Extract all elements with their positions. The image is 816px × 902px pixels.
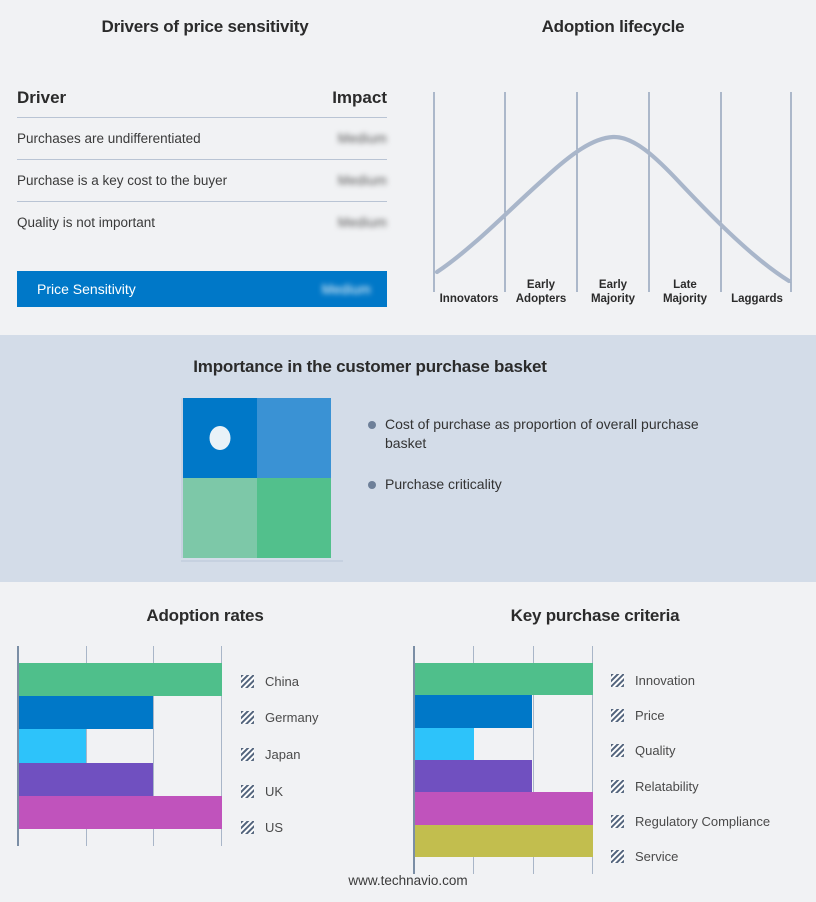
bar-row-innovation: [415, 663, 593, 695]
hatch-swatch-icon: [241, 675, 254, 688]
bullet-icon: [368, 421, 376, 429]
lifecycle-stage-labels: Innovators Early Adopters Early Majority…: [433, 264, 793, 310]
bar-row-us: [19, 796, 222, 829]
importance-panel-title: Importance in the customer purchase bask…: [0, 357, 740, 377]
impact-value-redacted: Medium: [338, 131, 387, 146]
stage-line-2: Majority: [649, 293, 721, 307]
quadrant-grid: [181, 398, 331, 558]
bar-innovation: [415, 663, 593, 695]
legend-label: US: [265, 820, 283, 835]
hatch-swatch-icon: [241, 748, 254, 761]
price-sensitivity-label: Price Sensitivity: [37, 281, 136, 297]
legend-item-germany: Germany: [241, 700, 392, 737]
bar-china: [19, 663, 222, 696]
legend-item-regulatory-compliance: Regulatory Compliance: [611, 804, 813, 839]
adoption-bar-rows: [19, 663, 222, 829]
legend-item-uk: UK: [241, 773, 392, 810]
bar-regulatory-compliance: [415, 792, 593, 824]
drivers-table: Driver Impact Purchases are undifferenti…: [17, 88, 387, 243]
bar-price: [415, 695, 532, 727]
hatch-swatch-icon: [611, 780, 624, 793]
bar-row-uk: [19, 763, 222, 796]
price-sensitivity-impact-redacted: Medium: [322, 282, 371, 297]
bar-row-china: [19, 663, 222, 696]
stage-line-1: Late: [649, 279, 721, 293]
bar-quality: [415, 728, 474, 760]
legend-label: Regulatory Compliance: [635, 814, 770, 829]
legend-item-relatability: Relatability: [611, 769, 813, 804]
hatch-swatch-icon: [611, 850, 624, 863]
hatch-swatch-icon: [611, 744, 624, 757]
stage-line-2: Adopters: [505, 293, 577, 307]
stage-line-1: Early: [577, 279, 649, 293]
criteria-plot-area: [413, 646, 593, 874]
lifecycle-stage-laggards: Laggards: [721, 264, 793, 310]
drivers-panel-title: Drivers of price sensitivity: [0, 17, 410, 37]
quadrant-bottom-left: [183, 478, 257, 558]
stage-line-2: Majority: [577, 293, 649, 307]
legend-item-quality: Quality: [611, 733, 813, 768]
position-marker-dot: [210, 426, 231, 450]
legend-item-purchase-criticality: Purchase criticality: [368, 475, 708, 494]
column-header-driver: Driver: [17, 88, 66, 108]
bar-germany: [19, 696, 153, 729]
driver-label: Purchases are undifferentiated: [17, 131, 201, 146]
hatch-swatch-icon: [611, 674, 624, 687]
legend-label: China: [265, 674, 299, 689]
legend-label: Service: [635, 849, 678, 864]
table-row: Purchase is a key cost to the buyer Medi…: [17, 160, 387, 202]
lifecycle-panel-title: Adoption lifecycle: [410, 17, 816, 37]
impact-value-redacted: Medium: [338, 215, 387, 230]
footer-website-url: www.technavio.com: [0, 873, 816, 888]
hatch-swatch-icon: [611, 709, 624, 722]
column-header-impact: Impact: [332, 88, 387, 108]
legend-label: Purchase criticality: [385, 475, 502, 494]
importance-in-purchase-basket-panel: Importance in the customer purchase bask…: [0, 335, 816, 582]
stage-line-1: Early: [505, 279, 577, 293]
lifecycle-stage-early-majority: Early Majority: [577, 264, 649, 310]
hatch-swatch-icon: [241, 711, 254, 724]
bullet-icon: [368, 481, 376, 489]
legend-label: Price: [635, 708, 665, 723]
legend-label: Relatability: [635, 779, 699, 794]
table-row: Quality is not important Medium: [17, 202, 387, 243]
legend-item-us: US: [241, 809, 392, 846]
bar-uk: [19, 763, 153, 796]
quadrant-top-left: [183, 398, 257, 478]
legend-item-china: China: [241, 663, 392, 700]
bar-us: [19, 796, 222, 829]
legend-label: UK: [265, 784, 283, 799]
adoption-rates-panel: Adoption rates: [0, 582, 410, 902]
bar-row-japan: [19, 729, 222, 762]
drivers-of-price-sensitivity-panel: Drivers of price sensitivity Driver Impa…: [0, 0, 410, 335]
impact-value-redacted: Medium: [338, 173, 387, 188]
criteria-bar-rows: [415, 663, 593, 857]
quadrant-baseline-axis: [181, 560, 343, 562]
bar-row-price: [415, 695, 593, 727]
lifecycle-stage-innovators: Innovators: [433, 264, 505, 310]
adoption-rates-chart: China Germany Japan UK: [17, 646, 392, 846]
legend-label: Japan: [265, 747, 300, 762]
quadrant-bottom-right: [257, 478, 331, 558]
price-sensitivity-summary-row: Price Sensitivity Medium: [17, 271, 387, 307]
driver-label: Quality is not important: [17, 215, 155, 230]
key-purchase-criteria-panel: Key purchase criteria: [395, 582, 816, 902]
lifecycle-stage-early-adopters: Early Adopters: [505, 264, 577, 310]
adoption-rates-title: Adoption rates: [0, 606, 410, 626]
bar-row-relatability: [415, 760, 593, 792]
lifecycle-bell-curve: [437, 137, 789, 281]
legend-label: Cost of purchase as proportion of overal…: [385, 415, 708, 453]
legend-item-cost-of-purchase: Cost of purchase as proportion of overal…: [368, 415, 708, 453]
legend-label: Innovation: [635, 673, 695, 688]
driver-label: Purchase is a key cost to the buyer: [17, 173, 227, 188]
adoption-plot-area: [17, 646, 222, 846]
lifecycle-stage-late-majority: Late Majority: [649, 264, 721, 310]
lifecycle-chart: Innovators Early Adopters Early Majority…: [433, 80, 793, 310]
adoption-legend: China Germany Japan UK: [222, 646, 392, 846]
stage-line-2: Innovators: [433, 293, 505, 307]
legend-item-price: Price: [611, 698, 813, 733]
hatch-swatch-icon: [241, 821, 254, 834]
bar-row-germany: [19, 696, 222, 729]
stage-line-2: Laggards: [721, 293, 793, 307]
bar-japan: [19, 729, 86, 762]
bar-relatability: [415, 760, 532, 792]
legend-item-service: Service: [611, 839, 813, 874]
key-purchase-criteria-title: Key purchase criteria: [395, 606, 795, 626]
importance-legend: Cost of purchase as proportion of overal…: [368, 415, 708, 516]
legend-item-innovation: Innovation: [611, 663, 813, 698]
key-purchase-criteria-chart: Innovation Price Quality Relatability: [413, 646, 813, 874]
table-row: Purchases are undifferentiated Medium: [17, 118, 387, 160]
bar-service: [415, 825, 593, 857]
quadrant-matrix: [181, 398, 333, 568]
quadrant-top-right: [257, 398, 331, 478]
drivers-table-header: Driver Impact: [17, 88, 387, 118]
criteria-legend: Innovation Price Quality Relatability: [593, 646, 813, 874]
bar-row-service: [415, 825, 593, 857]
bar-row-regulatory-compliance: [415, 792, 593, 824]
bar-row-quality: [415, 728, 593, 760]
legend-item-japan: Japan: [241, 736, 392, 773]
adoption-lifecycle-panel: Adoption lifecycle Innovators Early Adop…: [410, 0, 816, 335]
legend-label: Quality: [635, 743, 675, 758]
hatch-swatch-icon: [241, 785, 254, 798]
hatch-swatch-icon: [611, 815, 624, 828]
lifecycle-gridlines: [434, 92, 791, 292]
legend-label: Germany: [265, 710, 318, 725]
